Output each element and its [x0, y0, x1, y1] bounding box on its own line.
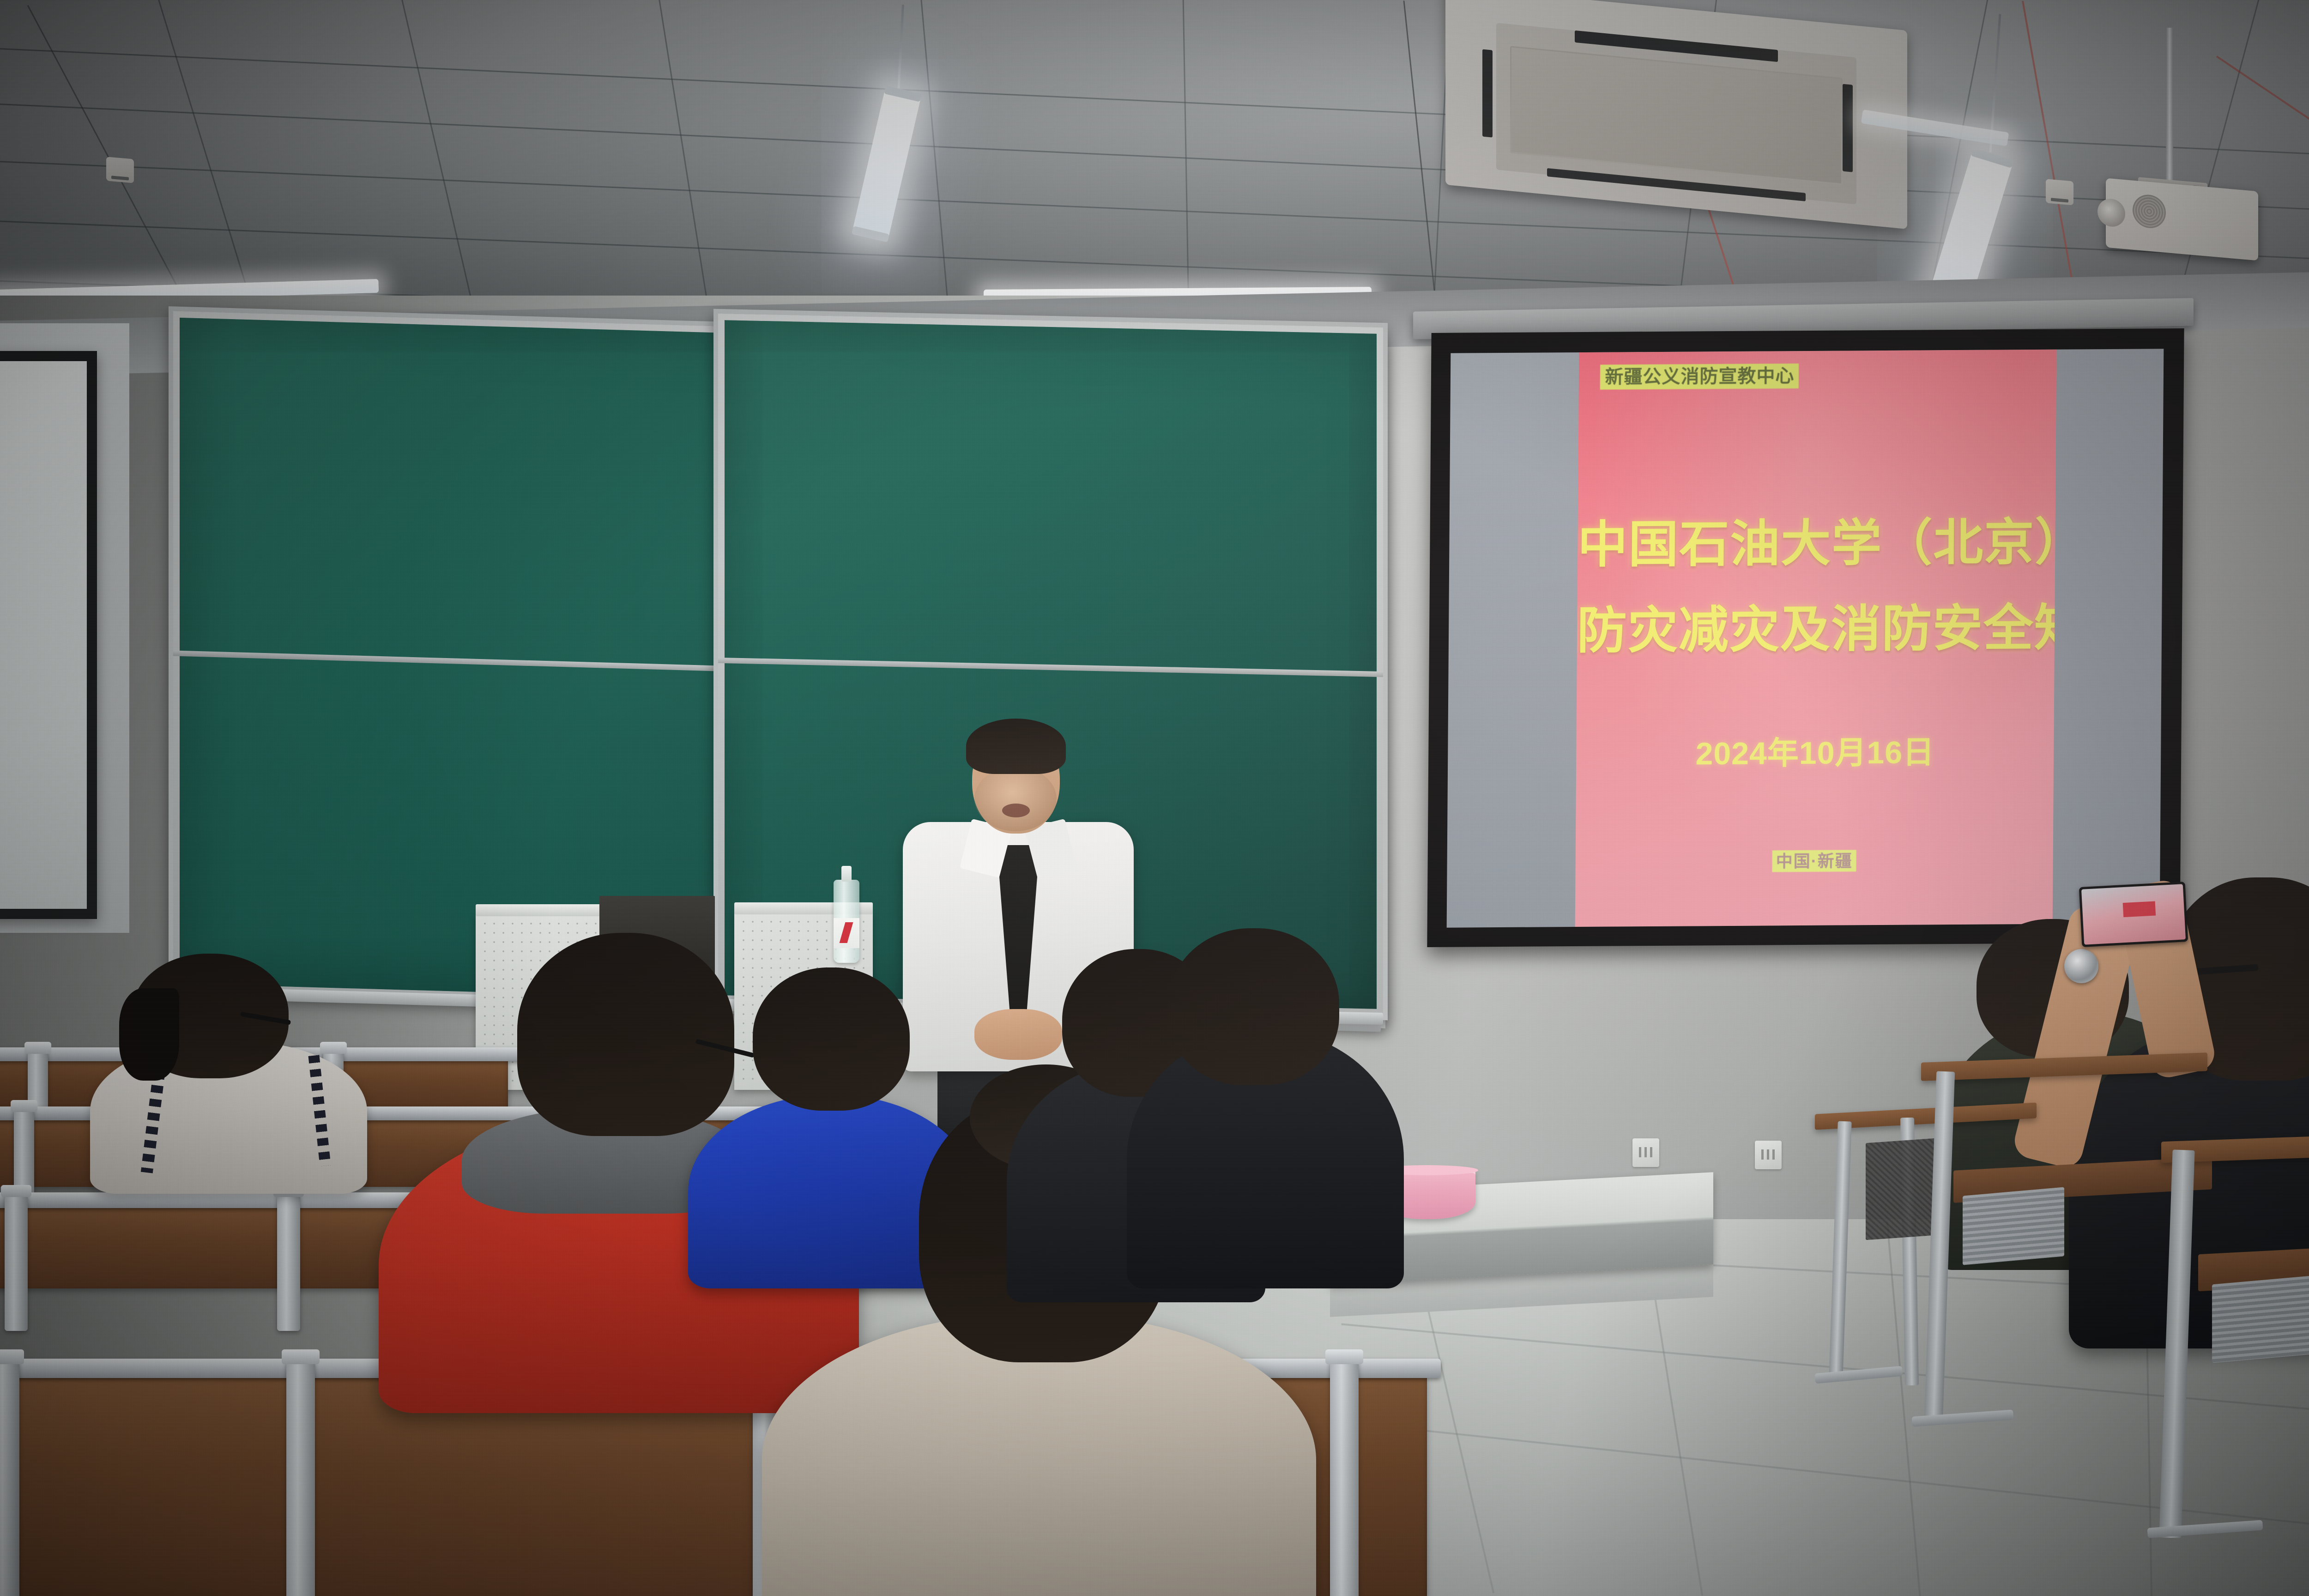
slide-date: 2024年10月16日	[1576, 726, 2054, 774]
projection-screen[interactable]: 新疆公义消防宣教中心 中国石油大学（北京）克拉玛依校区 防灾减灾及消防安全知识讲…	[1427, 328, 2184, 947]
projector-mount	[2166, 28, 2173, 194]
slide-watermark-text: 中国·新疆	[1772, 850, 1856, 872]
smoke-detector-icon	[106, 157, 134, 183]
ceiling-projector-icon	[2106, 178, 2258, 261]
slide-org-badge: 新疆公义消防宣教中心	[1600, 363, 1799, 390]
smartphone-icon[interactable]	[2079, 882, 2188, 947]
slide-title-line1: 中国石油大学（北京）克拉玛依校区	[1578, 502, 2056, 576]
water-bottle[interactable]	[834, 880, 859, 963]
slide-watermark: 中国·新疆	[1575, 846, 2053, 873]
smoke-detector-icon	[2046, 179, 2073, 205]
screen-surface: 新疆公义消防宣教中心 中国石油大学（北京）克拉玛依校区 防灾减灾及消防安全知识讲…	[1447, 349, 2164, 927]
wall-outlet-icon[interactable]	[1632, 1138, 1659, 1167]
whiteboard	[0, 351, 97, 919]
wrist-watch-icon	[2064, 949, 2098, 983]
wall-outlet-icon[interactable]	[1755, 1141, 1782, 1169]
presenter-hair	[966, 719, 1066, 774]
slide-title-line2: 防灾减灾及消防安全知识讲座	[1577, 588, 2055, 663]
lecture-hall-photo: 新疆公义消防宣教中心 中国石油大学（北京）克拉玛依校区 防灾减灾及消防安全知识讲…	[0, 0, 2309, 1596]
presenter-hands	[974, 1009, 1062, 1060]
slide: 新疆公义消防宣教中心 中国石油大学（北京）克拉玛依校区 防灾减灾及消防安全知识讲…	[1575, 350, 2057, 927]
